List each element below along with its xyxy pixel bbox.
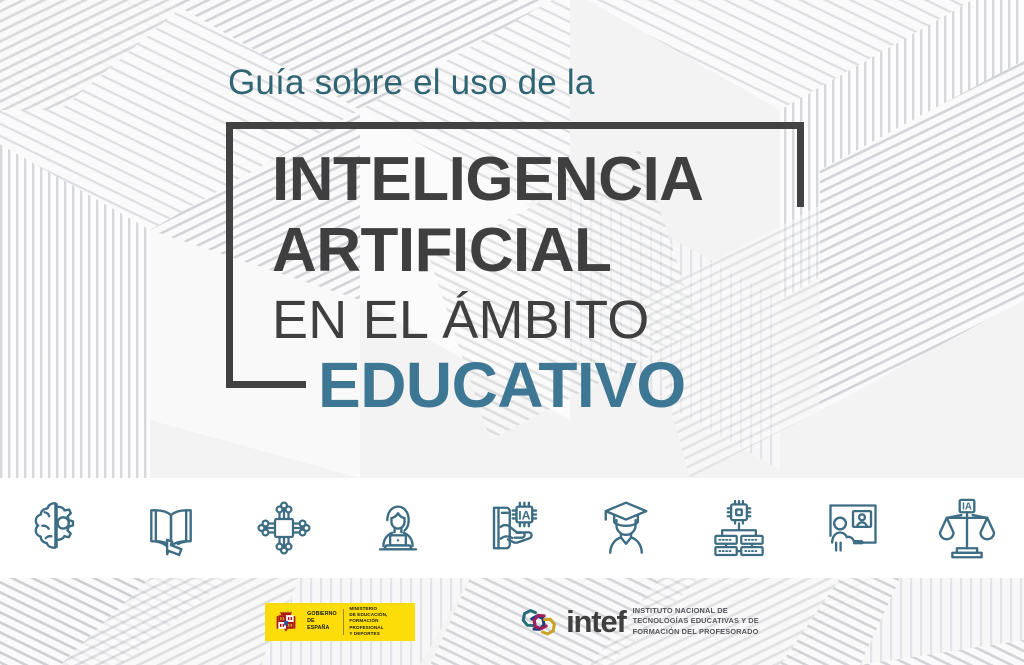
headline-line-4-accent: EDUCATIVO	[272, 354, 703, 417]
gobierno-line-2: DE ESPAÑA	[307, 618, 337, 632]
gobierno-line-1: GOBIERNO	[307, 611, 337, 618]
intef-sub-line-1: INSTITUTO NACIONAL DE	[633, 606, 759, 617]
intef-sub-line-3: FORMACIÓN DEL PROFESORADO	[633, 627, 759, 638]
teacher-screen-icon	[817, 492, 889, 564]
open-book-cursor-icon	[135, 492, 207, 564]
gob-divider	[343, 609, 344, 635]
ministerio-line-2: DE EDUCACIÓN, FORMACIÓN PROFESIONAL	[349, 612, 409, 630]
cpu-network-icon	[248, 492, 320, 564]
scales-ia-icon: IA	[931, 492, 1003, 564]
intef-hexagon-loops-icon	[519, 604, 559, 640]
cover-page: Guía sobre el uso de la INTELIGENCIA ART…	[0, 0, 1024, 665]
person-laptop-icon	[362, 492, 434, 564]
cover-headline: INTELIGENCIA ARTIFICIAL EN EL ÁMBITO EDU…	[272, 150, 703, 417]
intef-text-block: intef	[566, 606, 625, 637]
footer-logos: GOBIERNO DE ESPAÑA MINISTERIO DE EDUCACI…	[0, 578, 1024, 665]
headline-line-1: INTELIGENCIA	[272, 150, 703, 211]
intef-sub-line-2: TECNOLOGÍAS EDUCATIVAS Y DE	[633, 616, 759, 627]
brain-gear-icon	[21, 492, 93, 564]
intef-wordmark: intef	[566, 606, 625, 637]
gobierno-de-espana-logo: GOBIERNO DE ESPAÑA MINISTERIO DE EDUCACI…	[265, 603, 415, 641]
svg-text:IA: IA	[962, 502, 972, 513]
headline-line-3: EN EL ÁMBITO	[272, 294, 703, 347]
phone-hand-ia-chip-icon: IA	[476, 492, 548, 564]
server-network-icon	[703, 492, 775, 564]
headline-line-2: ARTIFICIAL	[272, 221, 703, 282]
escudo-de-espana-icon	[271, 607, 301, 637]
gobierno-wordmark: GOBIERNO DE ESPAÑA	[307, 611, 337, 631]
intef-subtitle: INSTITUTO NACIONAL DE TECNOLOGÍAS EDUCAT…	[633, 606, 759, 638]
svg-text:IA: IA	[518, 509, 530, 523]
intef-logo: intef INSTITUTO NACIONAL DE TECNOLOGÍAS …	[519, 604, 759, 640]
ministerio-line-3: Y DEPORTES	[349, 631, 409, 637]
icon-strip: IA	[0, 478, 1024, 578]
graduate-student-icon	[590, 492, 662, 564]
ministerio-wordmark: MINISTERIO DE EDUCACIÓN, FORMACIÓN PROFE…	[349, 606, 409, 636]
cover-kicker: Guía sobre el uso de la	[228, 63, 595, 103]
